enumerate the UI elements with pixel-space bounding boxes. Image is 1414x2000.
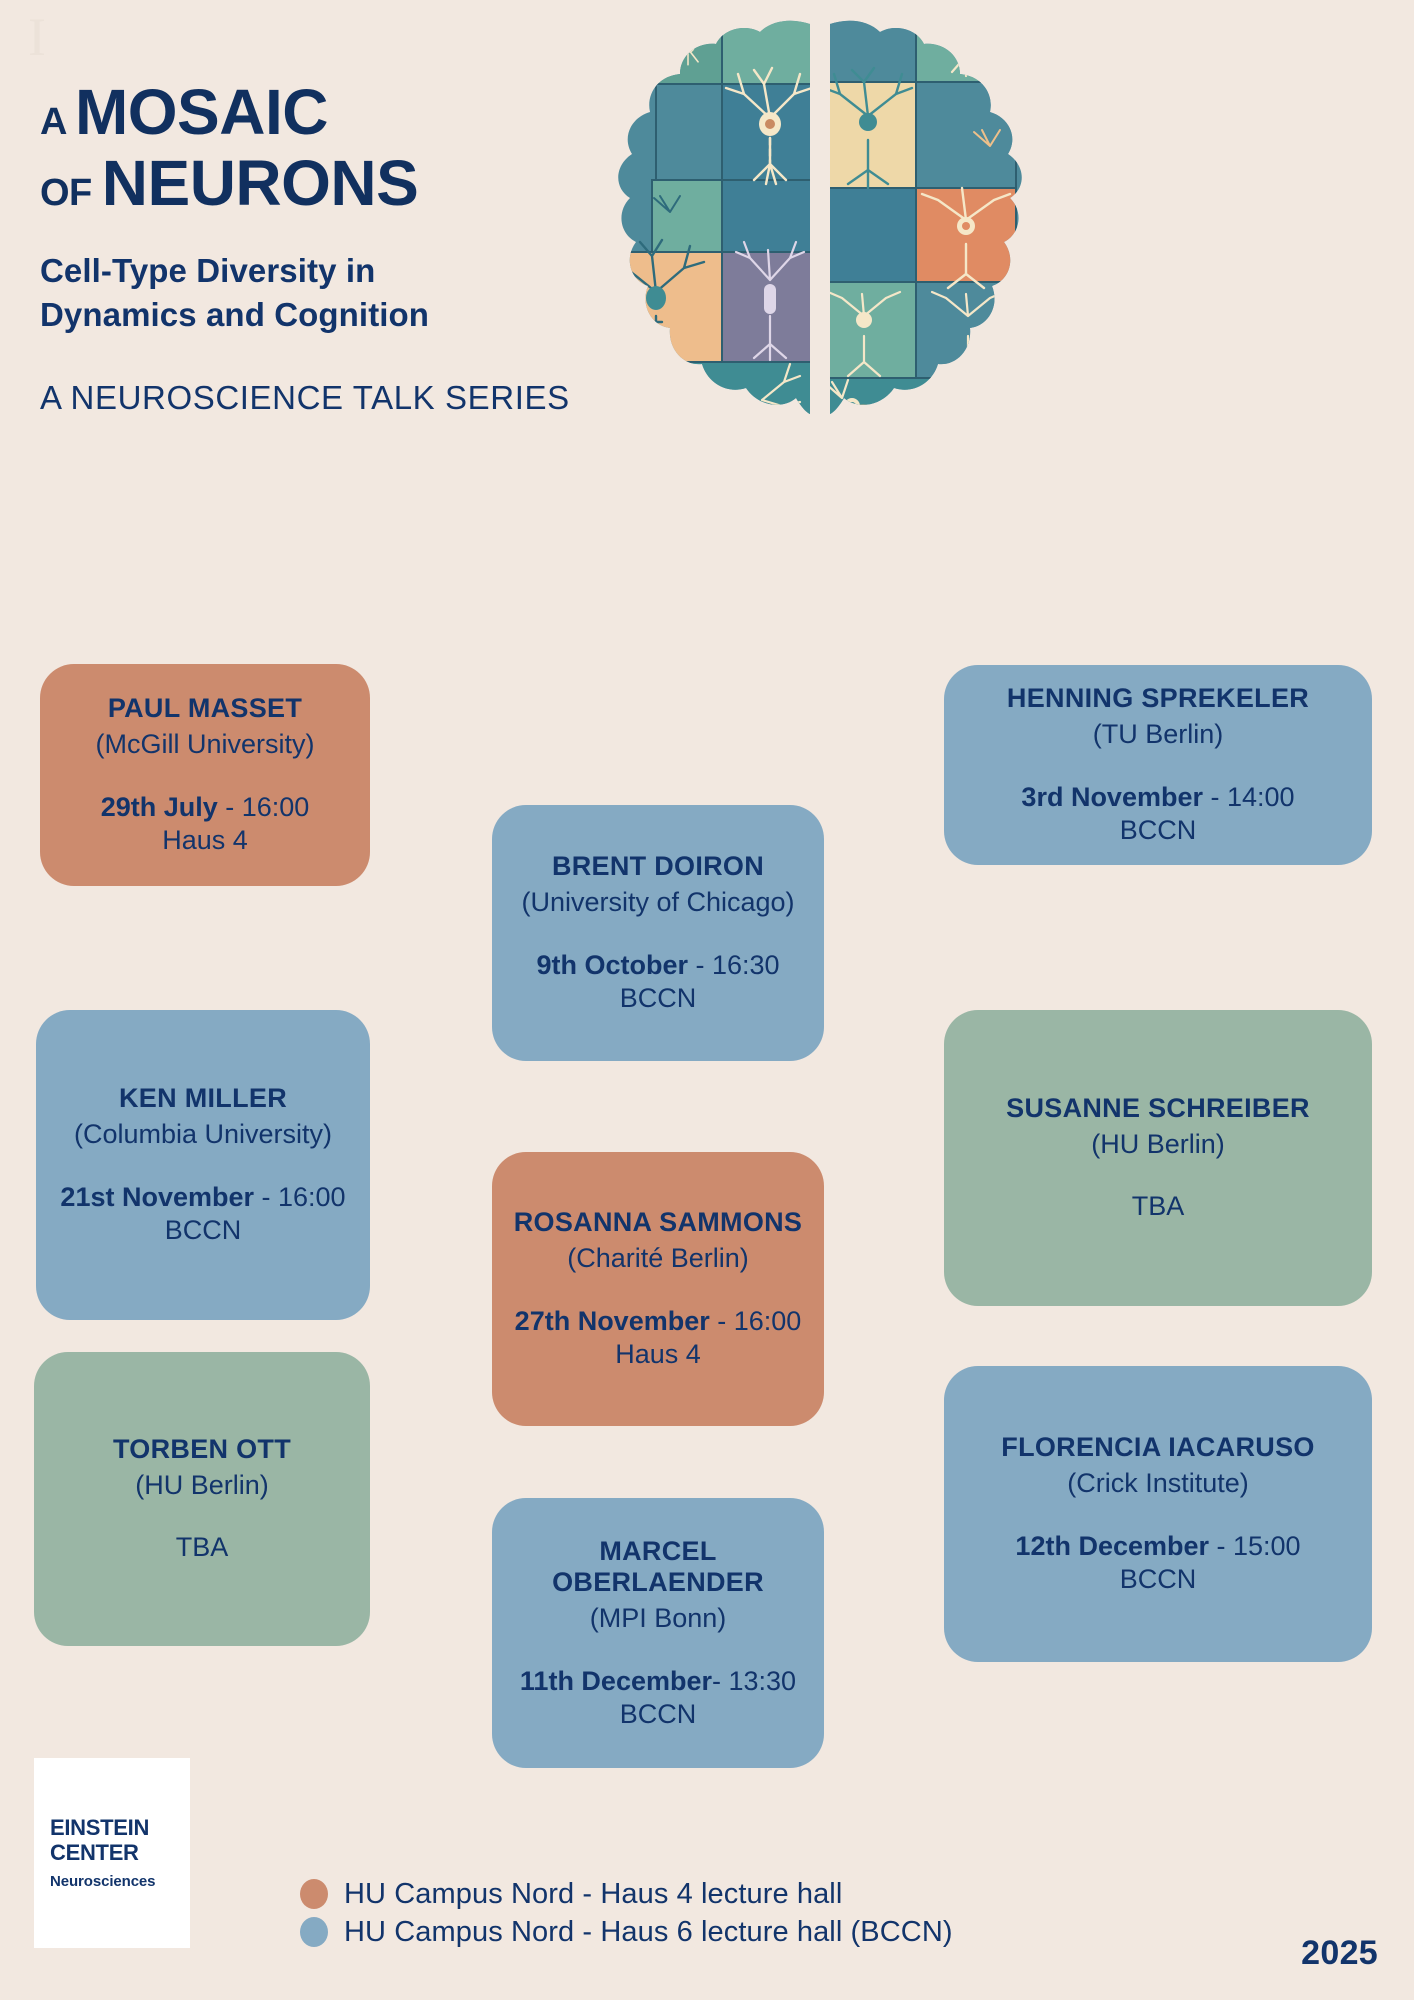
speaker-card-florencia-iacaruso[interactable]: FLORENCIA IACARUSO (Crick Institute) 12t…: [944, 1366, 1372, 1662]
speaker-affiliation: (Crick Institute): [1067, 1467, 1249, 1499]
logo-line-three: Neurosciences: [50, 1873, 190, 1890]
speaker-affiliation: (HU Berlin): [135, 1469, 269, 1501]
speaker-datetime: 11th December- 13:30: [520, 1665, 796, 1698]
speaker-name: SUSANNE SCHREIBER: [1006, 1093, 1310, 1125]
venue-legend: HU Campus Nord - Haus 4 lecture hall HU …: [300, 1875, 1300, 1951]
speaker-card-henning-sprekeler[interactable]: HENNING SPREKELER (TU Berlin) 3rd Novemb…: [944, 665, 1372, 865]
title-word-a: A: [40, 101, 67, 143]
speaker-venue: BCCN: [1120, 1563, 1197, 1596]
speaker-datetime: 27th November - 16:00: [515, 1305, 802, 1338]
speaker-affiliation: (Columbia University): [74, 1118, 332, 1150]
speaker-card-marcel-oberlaender[interactable]: MARCEL OBERLAENDER (MPI Bonn) 11th Decem…: [492, 1498, 824, 1768]
speaker-time: - 16:00: [254, 1182, 346, 1212]
speaker-date: 29th July: [101, 792, 218, 822]
speaker-time: - 16:30: [688, 950, 780, 980]
speaker-date: 9th October: [536, 950, 688, 980]
speaker-date: 12th December: [1015, 1531, 1209, 1561]
title-word-of: OF: [40, 172, 92, 214]
legend-label: HU Campus Nord - Haus 4 lecture hall: [344, 1878, 842, 1911]
speaker-name: TORBEN OTT: [113, 1434, 291, 1466]
speaker-time: - 13:30: [712, 1666, 796, 1696]
title-block: AMOSAIC OFNEURONS Cell-Type Diversity in…: [40, 80, 660, 417]
speaker-venue: BCCN: [620, 1698, 697, 1731]
speaker-card-paul-masset[interactable]: PAUL MASSET (McGill University) 29th Jul…: [40, 664, 370, 886]
logo-line-one: EINSTEIN: [50, 1816, 190, 1841]
speaker-affiliation: (MPI Bonn): [590, 1602, 727, 1634]
poster-header: AMOSAIC OFNEURONS Cell-Type Diversity in…: [0, 0, 1414, 520]
speaker-affiliation: (TU Berlin): [1093, 718, 1224, 750]
speaker-card-torben-ott[interactable]: TORBEN OTT (HU Berlin) TBA: [34, 1352, 370, 1646]
legend-label: HU Campus Nord - Haus 6 lecture hall (BC…: [344, 1916, 953, 1949]
speaker-name: BRENT DOIRON: [552, 851, 764, 883]
speaker-card-brent-doiron[interactable]: BRENT DOIRON (University of Chicago) 9th…: [492, 805, 824, 1061]
poster-year: 2025: [1301, 1934, 1378, 1973]
legend-dot-blue-icon: [300, 1917, 328, 1947]
title-word-neurons: NEURONS: [102, 147, 419, 219]
speaker-affiliation: (HU Berlin): [1091, 1128, 1225, 1160]
subtitle-line-one: Cell-Type Diversity in: [40, 249, 660, 293]
legend-item-haus4: HU Campus Nord - Haus 4 lecture hall: [300, 1875, 1300, 1913]
speaker-time: - 16:00: [218, 792, 310, 822]
einstein-center-logo: EINSTEIN CENTER Neurosciences: [34, 1758, 190, 1948]
speaker-time: - 16:00: [710, 1306, 802, 1336]
speaker-name: FLORENCIA IACARUSO: [1001, 1432, 1314, 1464]
speaker-venue: Haus 4: [162, 824, 248, 857]
speaker-affiliation: (University of Chicago): [521, 886, 794, 918]
legend-dot-orange-icon: [300, 1879, 328, 1909]
speaker-card-ken-miller[interactable]: KEN MILLER (Columbia University) 21st No…: [36, 1010, 370, 1320]
title-line-one: AMOSAIC: [40, 80, 660, 144]
title-word-mosaic: MOSAIC: [75, 76, 328, 148]
speaker-datetime: 29th July - 16:00: [101, 791, 310, 824]
brain-mosaic-illustration: [596, 16, 1044, 486]
speaker-name: HENNING SPREKELER: [1007, 683, 1309, 715]
speaker-affiliation: (McGill University): [96, 728, 315, 760]
speaker-card-rosanna-sammons[interactable]: ROSANNA SAMMONS (Charité Berlin) 27th No…: [492, 1152, 824, 1426]
speaker-date: 27th November: [515, 1306, 710, 1336]
speaker-datetime: 21st November - 16:00: [60, 1181, 345, 1214]
speaker-datetime: 3rd November - 14:00: [1021, 781, 1294, 814]
speaker-venue: BCCN: [620, 982, 697, 1015]
poster-root: I AMOSAIC OFNEURONS Cell-Type Diversity …: [0, 0, 1414, 2000]
logo-line-two: CENTER: [50, 1841, 190, 1866]
series-label: A NEUROSCIENCE TALK SERIES: [40, 379, 660, 417]
speaker-date: 3rd November: [1021, 782, 1203, 812]
subtitle-line-two: Dynamics and Cognition: [40, 293, 660, 337]
speaker-venue: BCCN: [165, 1214, 242, 1247]
speaker-name: PAUL MASSET: [108, 693, 302, 725]
speaker-venue: TBA: [1132, 1190, 1185, 1223]
poster-subtitle: Cell-Type Diversity in Dynamics and Cogn…: [40, 249, 660, 337]
speaker-date: 11th December: [520, 1666, 712, 1696]
speaker-name: KEN MILLER: [119, 1083, 287, 1115]
legend-item-haus6: HU Campus Nord - Haus 6 lecture hall (BC…: [300, 1913, 1300, 1951]
speaker-venue: BCCN: [1120, 814, 1197, 847]
speaker-time: - 15:00: [1209, 1531, 1301, 1561]
speaker-datetime: 9th October - 16:30: [536, 949, 779, 982]
speaker-venue: TBA: [176, 1531, 229, 1564]
speaker-card-susanne-schreiber[interactable]: SUSANNE SCHREIBER (HU Berlin) TBA: [944, 1010, 1372, 1306]
speaker-name: MARCEL OBERLAENDER: [508, 1536, 808, 1600]
speaker-datetime: 12th December - 15:00: [1015, 1530, 1300, 1563]
title-line-two: OFNEURONS: [40, 150, 660, 217]
speaker-date: 21st November: [60, 1182, 254, 1212]
speaker-time: - 14:00: [1203, 782, 1295, 812]
speaker-affiliation: (Charité Berlin): [567, 1242, 749, 1274]
speaker-venue: Haus 4: [615, 1338, 701, 1371]
speaker-name: ROSANNA SAMMONS: [514, 1207, 803, 1239]
